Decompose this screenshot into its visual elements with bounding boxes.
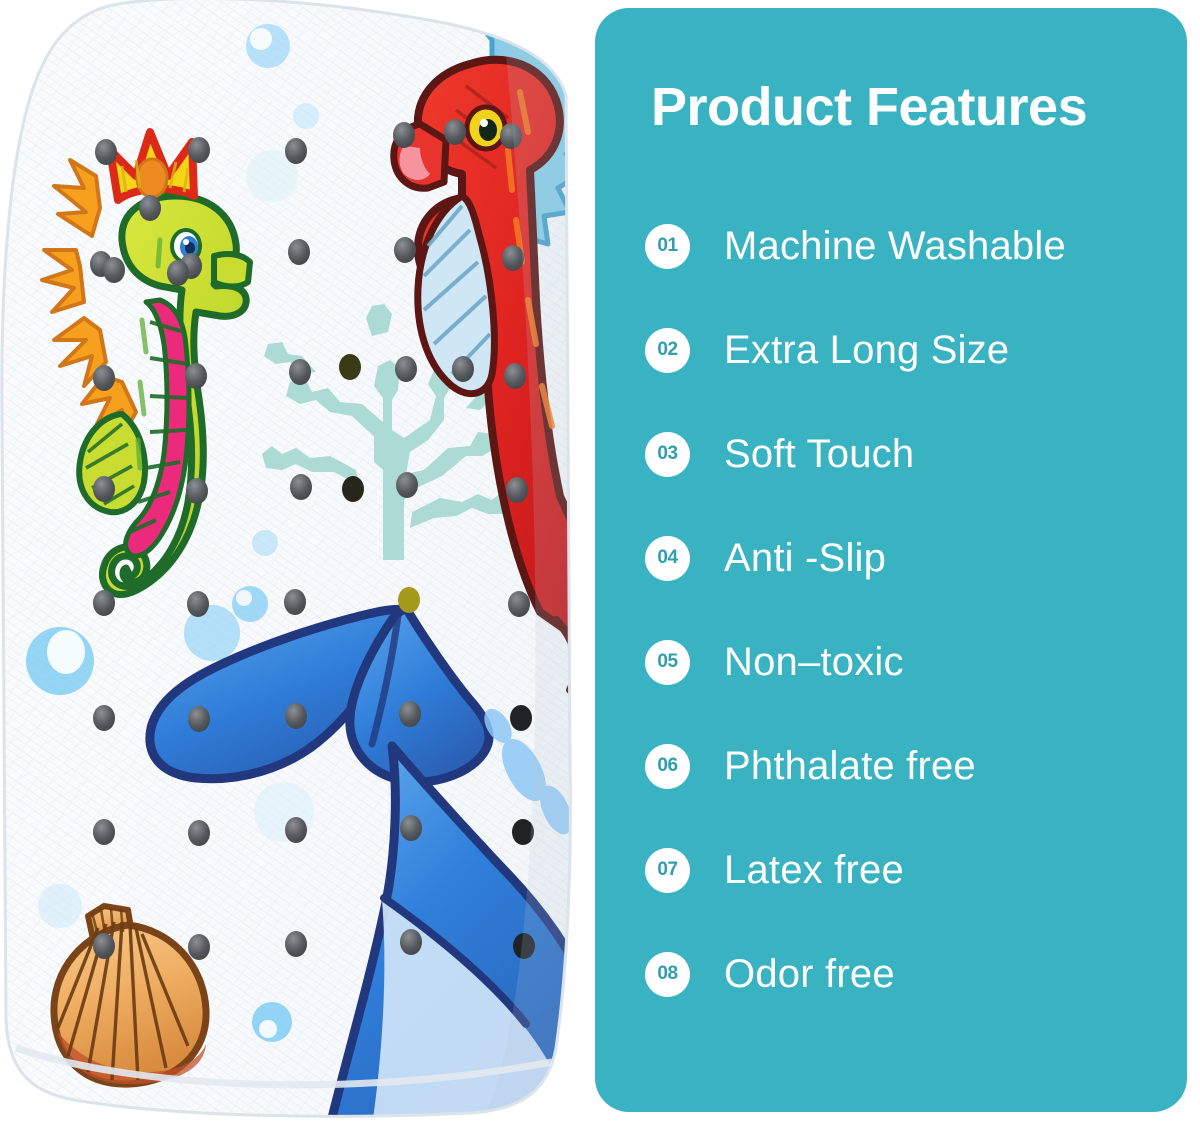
bubble [38,884,82,928]
feature-label: Soft Touch [724,432,914,477]
feature-number-badge: 08 [645,952,690,997]
feature-number-badge: 05 [645,640,690,685]
feature-item-extra-long-size: 02 Extra Long Size [645,326,1165,374]
bath-mat-illustration [0,0,580,1126]
product-marketing-image: Product Features 01 Machine Washable 02 … [0,0,1200,1126]
feature-item-soft-touch: 03 Soft Touch [645,430,1165,478]
feature-label: Odor free [724,952,895,997]
feature-number-badge: 04 [645,536,690,581]
feature-item-non-toxic: 05 Non–toxic [645,638,1165,686]
feature-item-anti-slip: 04 Anti -Slip [645,534,1165,582]
feature-item-machine-washable: 01 Machine Washable [645,222,1165,270]
product-photo-bath-mat [0,0,580,1126]
feature-number-badge: 02 [645,328,690,373]
feature-label: Non–toxic [724,640,904,685]
feature-label: Anti -Slip [724,536,886,581]
product-features-panel: Product Features 01 Machine Washable 02 … [595,8,1187,1112]
mat-body [0,0,580,1126]
feature-number-badge: 01 [645,224,690,269]
feature-label: Latex free [724,848,904,893]
feature-item-latex-free: 07 Latex free [645,846,1165,894]
page-title: Product Features [651,76,1087,138]
feature-item-odor-free: 08 Odor free [645,950,1165,998]
feature-label: Extra Long Size [724,328,1009,373]
bubble [26,627,94,695]
feature-item-phthalate-free: 06 Phthalate free [645,742,1165,790]
feature-number-badge: 07 [645,848,690,893]
bubble [246,24,290,68]
bubble [293,103,319,129]
feature-label: Phthalate free [724,744,976,789]
feature-label: Machine Washable [724,224,1066,269]
features-list: 01 Machine Washable 02 Extra Long Size 0… [645,222,1165,998]
feature-number-badge: 03 [645,432,690,477]
bubble [232,586,268,622]
bubble [252,1002,292,1042]
feature-number-badge: 06 [645,744,690,789]
bubble [252,530,278,556]
